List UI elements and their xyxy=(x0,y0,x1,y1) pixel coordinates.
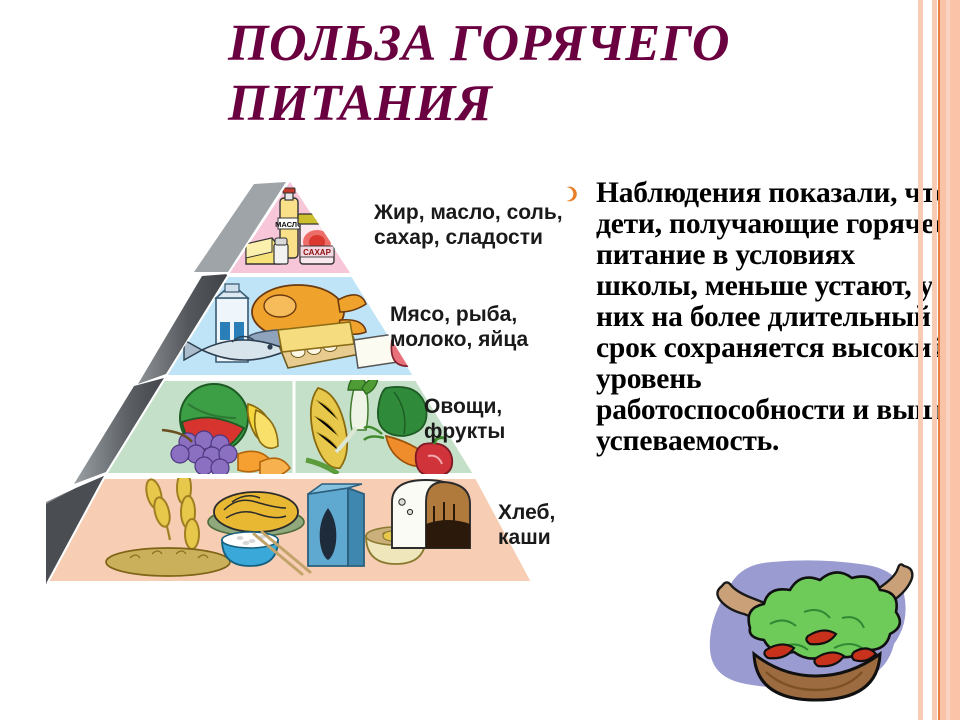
bullet-list-item: Наблюдения показали, что дети, получающи… xyxy=(562,178,954,457)
content-body: Наблюдения показали, что дети, получающи… xyxy=(562,178,954,457)
edge-stripe-1 xyxy=(932,0,937,720)
slide-canvas: ПОЛЬЗА ГОРЯЧЕГО ПИТАНИЯ xyxy=(0,0,960,720)
pyramid-label-fats: Жир, масло, соль, сахар, сладости xyxy=(374,200,563,250)
salad-bowl-graphic xyxy=(692,548,934,720)
salad-bowl-illustration xyxy=(692,548,934,720)
edge-stripe-0 xyxy=(918,0,923,720)
page-title: ПОЛЬЗА ГОРЯЧЕГО ПИТАНИЯ xyxy=(228,14,928,134)
pyramid-label-vegetables: Овощи, фрукты xyxy=(424,394,505,444)
decorative-edge-stripes xyxy=(912,0,960,720)
pyramid-label-grains: Хлеб, каши xyxy=(498,500,555,550)
pyramid-tier-vegetables xyxy=(106,376,474,478)
body-paragraph: Наблюдения показали, что дети, получающи… xyxy=(596,178,954,457)
crescent-ring-bullet-icon xyxy=(562,185,580,203)
pyramid-tier-grains xyxy=(48,472,532,582)
svg-text:САХАР: САХАР xyxy=(303,248,331,257)
edge-stripe-5 xyxy=(950,0,960,720)
pyramid-label-protein: Мясо, рыба, молоко, яйца xyxy=(390,302,528,352)
food-pyramid: МАСЛО САХАР xyxy=(42,172,582,596)
